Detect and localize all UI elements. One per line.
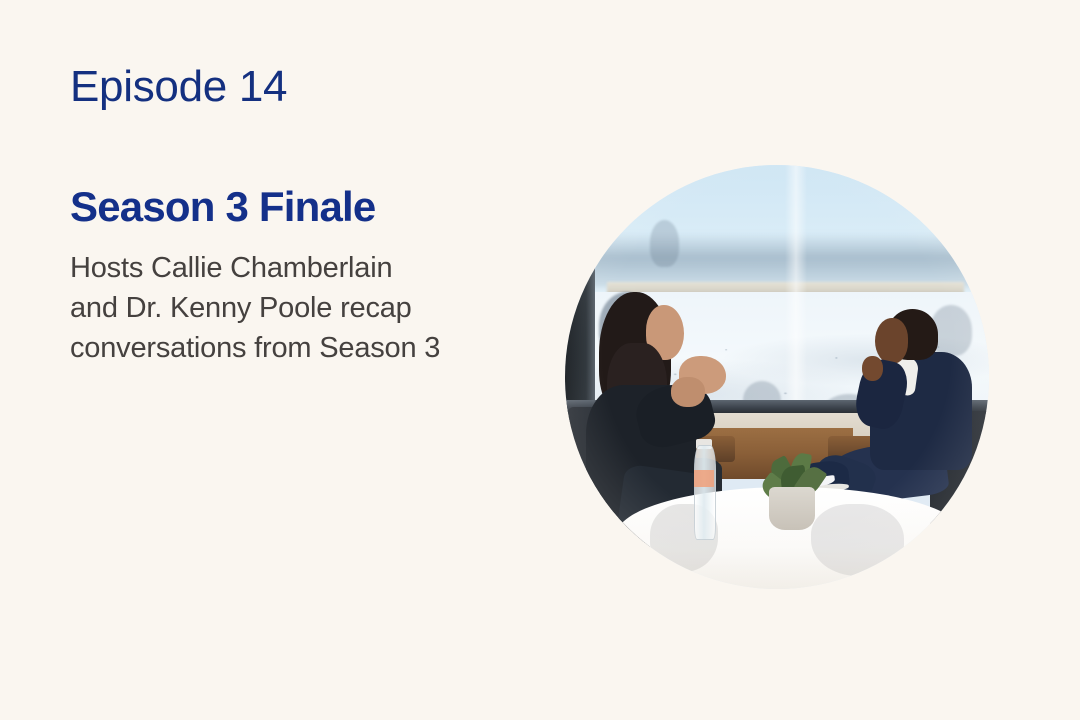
- episode-number-label: Episode 14: [70, 60, 540, 114]
- description-line-1: Hosts Callie Chamberlain: [70, 248, 540, 288]
- host-left-hand: [671, 377, 705, 407]
- water-bottle: [694, 445, 716, 540]
- distant-treeline: [565, 233, 989, 288]
- episode-photo: [565, 165, 989, 589]
- tree-icon: [650, 220, 680, 267]
- window-mullion: [785, 165, 806, 402]
- table-reflection: [811, 504, 904, 576]
- host-right-face: [875, 318, 909, 365]
- plant-pot: [769, 487, 816, 529]
- text-column: Episode 14 Season 3 Finale Hosts Callie …: [70, 60, 540, 368]
- water-bottle-label: [694, 470, 714, 487]
- episode-description: Hosts Callie Chamberlain and Dr. Kenny P…: [70, 248, 540, 368]
- description-line-2: and Dr. Kenny Poole recap: [70, 288, 540, 328]
- episode-promo-card: Episode 14 Season 3 Finale Hosts Callie …: [0, 0, 1080, 720]
- window-left-frame: [565, 224, 595, 428]
- host-right-hand: [862, 356, 883, 381]
- description-line-3: conversations from Season 3: [70, 328, 540, 368]
- page-title: Season 3 Finale: [70, 182, 540, 232]
